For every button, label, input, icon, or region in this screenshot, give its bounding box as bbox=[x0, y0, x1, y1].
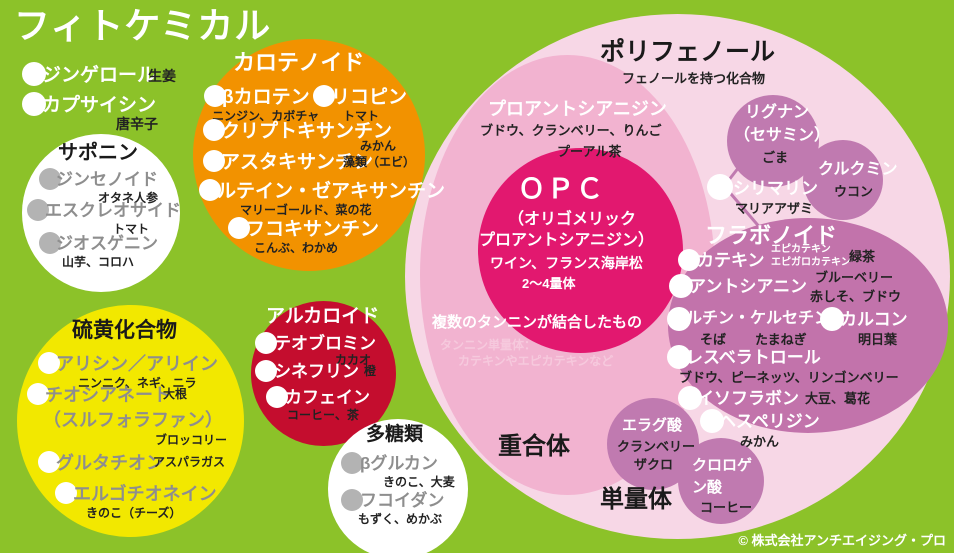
anthocyanin-name: アントシアニン bbox=[689, 278, 807, 295]
lignan-name: リグナン bbox=[745, 105, 809, 121]
opc-name: ＯＰＣ bbox=[518, 176, 605, 203]
opc-full-2: プロアントシアニジン） bbox=[479, 233, 654, 249]
capsaicin-source: 唐辛子 bbox=[116, 117, 158, 131]
ellagic-acid-source-2: ザクロ bbox=[634, 458, 673, 471]
synephrine-name: シネフリン bbox=[274, 363, 359, 380]
diosgenin-source: 山芋、コロハ bbox=[62, 256, 134, 268]
curcumin-name: クルクミン bbox=[818, 162, 898, 178]
theobromine-name: テオブロミン bbox=[274, 335, 376, 352]
fucoxanthin-source: こんぶ、わかめ bbox=[254, 242, 338, 254]
diosgenin-name: ジオスゲニン bbox=[56, 235, 158, 252]
polyphenol-title: ポリフェノール bbox=[600, 40, 775, 65]
quercetin-source: たまねぎ bbox=[755, 333, 807, 346]
monomer-label: 単量体 bbox=[600, 488, 672, 512]
opc-full-1: （オリゴメリック bbox=[508, 212, 636, 228]
anthocyanin-source-2: 赤しそ、ブドウ bbox=[810, 290, 901, 303]
gingerol-source: 生姜 bbox=[148, 69, 176, 83]
proanthocyanidin-source-2: プーアル茶 bbox=[557, 145, 621, 158]
ergothioneine-name: エルゴチオネイン bbox=[73, 485, 217, 503]
esculeoside-name: エスクレオサイド bbox=[45, 202, 181, 219]
beta-glucan-name: βグルカン bbox=[360, 455, 438, 472]
ginsenoside-name: ジンセノイド bbox=[56, 171, 158, 188]
thiocyanate-name: チオシアネート bbox=[45, 386, 171, 404]
infographic-canvas: ポリフェノール フェノールを持つ化合物 プロアントシアニジン ブドウ、クランベリ… bbox=[0, 0, 954, 553]
proanthocyanidin-name: プロアントシアニジン bbox=[488, 100, 667, 118]
copyright-notice: © 株式会社アンチエイジング・プロ bbox=[738, 534, 946, 547]
catechin-sub-1: エピカテキン bbox=[771, 245, 831, 255]
gingerol-name: ジンゲロール bbox=[42, 66, 156, 85]
isoflavone-source: 大豆、葛花 bbox=[805, 392, 870, 405]
caffeine-name: カフェイン bbox=[285, 389, 370, 406]
catechin-source: 緑茶 bbox=[849, 250, 875, 263]
chalcone-source: 明日葉 bbox=[858, 333, 897, 346]
fucoidan-source: もずく、めかぶ bbox=[358, 513, 442, 525]
chalcone-name: カルコン bbox=[840, 311, 908, 328]
rutin-source: そば bbox=[700, 333, 726, 346]
cryptoxanthin-source: みかん bbox=[360, 140, 396, 152]
chlorogenic-acid-name-2: ン酸 bbox=[692, 480, 722, 495]
silymarin-name: シリマリン bbox=[733, 180, 818, 197]
capsaicin-name: カプサイシン bbox=[42, 96, 156, 115]
resveratrol-source: ブドウ、ピーネッツ、リンゴンベリー bbox=[679, 371, 899, 384]
caffeine-source: コーヒー、茶 bbox=[287, 409, 359, 421]
ellagic-acid-source-1: クランベリー bbox=[617, 440, 695, 453]
catechin-sub-2: エピガロカテキン bbox=[771, 258, 851, 268]
tannin-note-3: カテキンやエピカテキンなど bbox=[458, 355, 613, 367]
proanthocyanidin-source-1: ブドウ、クランベリー、りんご bbox=[480, 124, 661, 137]
lutein-zeaxanthin-name: ルテイン・ゼアキサンチン bbox=[217, 182, 445, 201]
ellagic-acid-name: エラグ酸 bbox=[622, 418, 682, 433]
glutathione-source: アスパラガス bbox=[153, 456, 225, 468]
isoflavone-name: イソフラボン bbox=[697, 390, 799, 407]
astaxanthin-source: 藻類（エビ） bbox=[343, 156, 415, 168]
ergothioneine-source: きのこ（チーズ） bbox=[86, 507, 181, 519]
fucoxanthin-name: フコキサンチン bbox=[246, 220, 379, 239]
polyphenol-subtitle: フェノールを持つ化合物 bbox=[622, 72, 765, 85]
curcumin-source: ウコン bbox=[834, 185, 873, 198]
saponin-title: サポニン bbox=[58, 143, 138, 163]
page-title: フィトケミカル bbox=[14, 8, 271, 44]
synephrine-source: 橙 bbox=[364, 365, 376, 377]
alkaloid-title: アルカロイド bbox=[266, 307, 379, 326]
opc-source: ワイン、フランス海岸松 bbox=[490, 256, 643, 270]
tannin-note-1: 複数のタンニンが結合したもの bbox=[432, 315, 642, 330]
rutin-quercetin-name: ルチン・ケルセチン bbox=[686, 311, 830, 327]
glutathione-name: グルタチオン bbox=[56, 454, 164, 472]
lignan-source: ごま bbox=[762, 151, 788, 164]
lycopene-name: リコピン bbox=[331, 88, 407, 107]
beta-carotene-name: βカロテン bbox=[222, 88, 310, 107]
hesperidin-name: ヘスペリジン bbox=[719, 413, 820, 430]
opc-note: 2～4量体 bbox=[522, 277, 575, 290]
hesperidin-source: みかん bbox=[740, 435, 779, 448]
fucoidan-name: フコイダン bbox=[360, 492, 444, 509]
catechin-name: カテキン bbox=[697, 252, 765, 269]
thiocyanate-source: 大根 bbox=[163, 388, 187, 400]
lignan-name-2: （セサミン） bbox=[734, 128, 830, 144]
allicin-name: アリシン／アリイン bbox=[56, 355, 218, 373]
silymarin-bullet-icon bbox=[707, 174, 733, 200]
silymarin-source: マリアアザミ bbox=[735, 202, 813, 215]
chlorogenic-acid-name: クロロゲ bbox=[692, 458, 752, 473]
resveratrol-name: レスベラトロール bbox=[686, 349, 821, 366]
polysaccharide-title: 多糖類 bbox=[366, 425, 423, 444]
polymer-label: 重合体 bbox=[498, 435, 570, 459]
carotenoid-title: カロテノイド bbox=[233, 52, 364, 74]
tannin-note-2: タンニン単量体： bbox=[440, 339, 536, 351]
chlorogenic-acid-source: コーヒー bbox=[700, 501, 752, 514]
beta-glucan-source: きのこ、大麦 bbox=[383, 476, 455, 488]
sulforaphane-name: （スルフォラファン） bbox=[43, 411, 223, 429]
sulfur-title: 硫黄化合物 bbox=[72, 320, 177, 341]
sulforaphane-source: ブロッコリー bbox=[155, 434, 227, 446]
anthocyanin-source-1: ブルーベリー bbox=[815, 271, 893, 284]
lutein-zeaxanthin-source: マリーゴールド、菜の花 bbox=[240, 204, 372, 216]
